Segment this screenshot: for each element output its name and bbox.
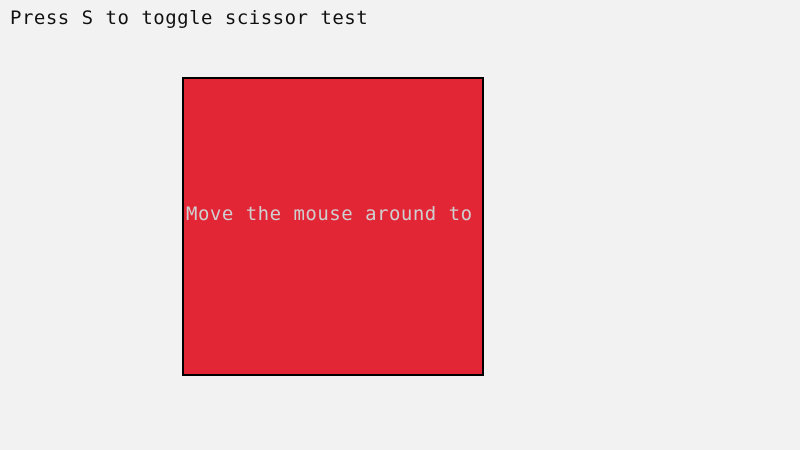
scissor-rectangle[interactable]: Move the mouse around to resize the scis… (182, 77, 484, 376)
scissor-clipped-message: Move the mouse around to resize the scis… (186, 202, 484, 226)
scissor-toggle-hint: Press S to toggle scissor test (10, 6, 368, 30)
app-canvas: Press S to toggle scissor test Move the … (0, 0, 800, 450)
